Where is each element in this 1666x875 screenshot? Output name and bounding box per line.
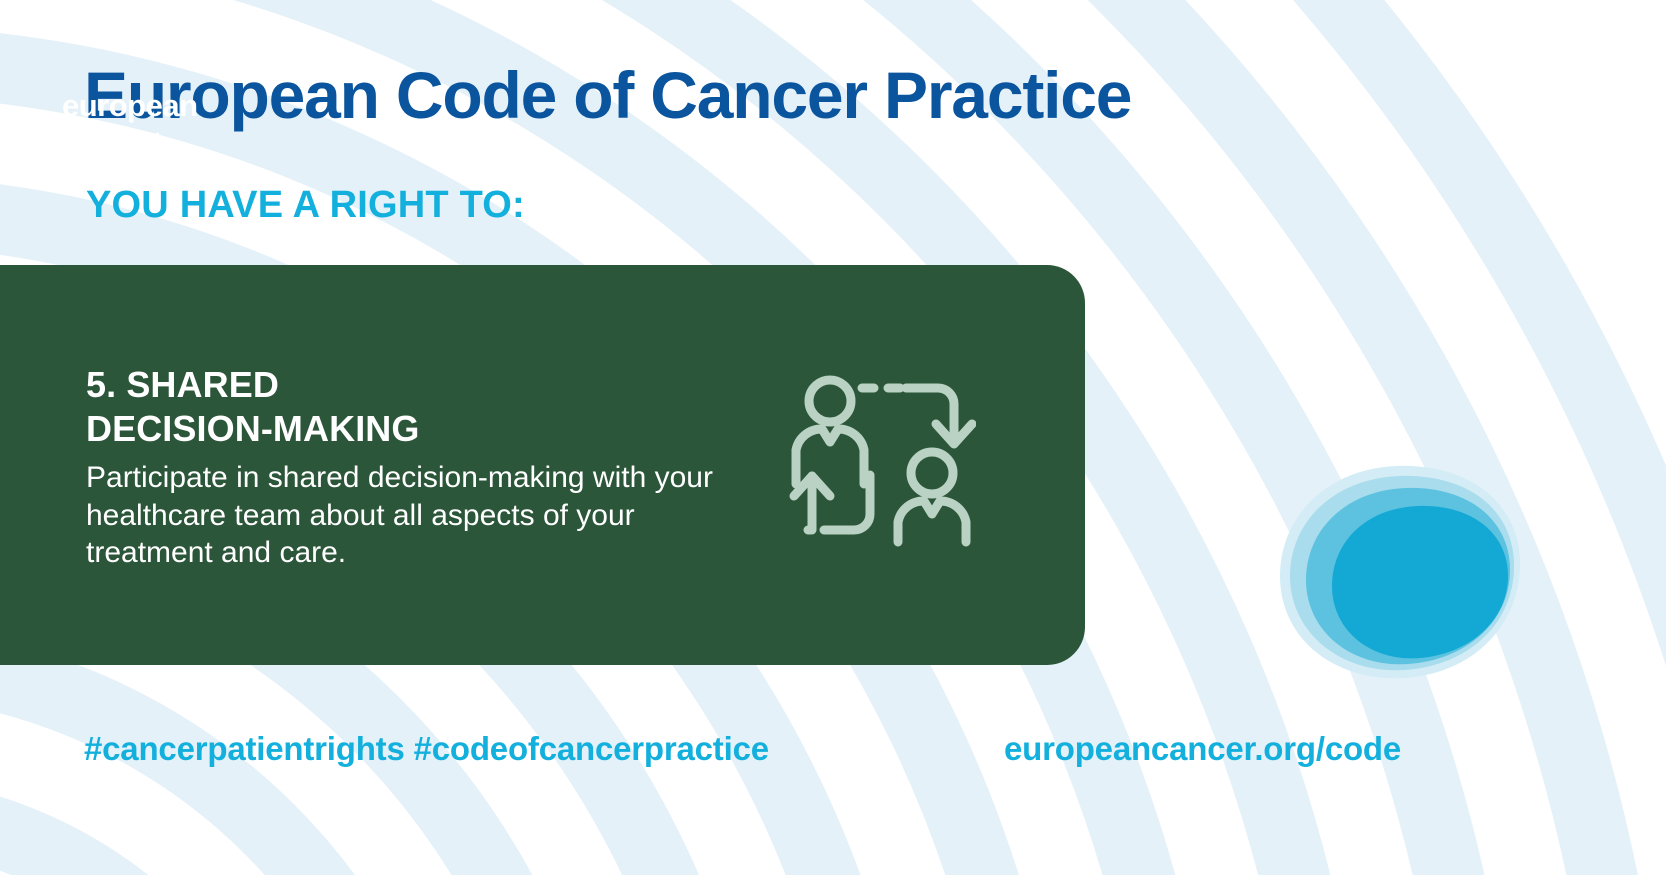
page-title: European Code of Cancer Practice: [84, 62, 1131, 128]
two-people-cycle-arrows-icon: [786, 372, 976, 547]
footer-hashtags: #cancerpatientrights #codeofcancerpracti…: [84, 730, 769, 768]
right-card: 5. SHARED DECISION-MAKING Participate in…: [0, 265, 1085, 665]
page-subtitle: YOU HAVE A RIGHT TO:: [86, 186, 525, 224]
european-cancer-organisation-logo: [1232, 458, 1522, 688]
footer-url[interactable]: europeancancer.org/code: [1004, 730, 1401, 768]
card-text-block: 5. SHARED DECISION-MAKING Participate in…: [86, 363, 726, 572]
card-body-text: Participate in shared decision-making wi…: [86, 459, 726, 572]
poster-canvas: European Code of Cancer Practice YOU HAV…: [0, 0, 1666, 875]
card-heading: 5. SHARED DECISION-MAKING: [86, 363, 726, 451]
